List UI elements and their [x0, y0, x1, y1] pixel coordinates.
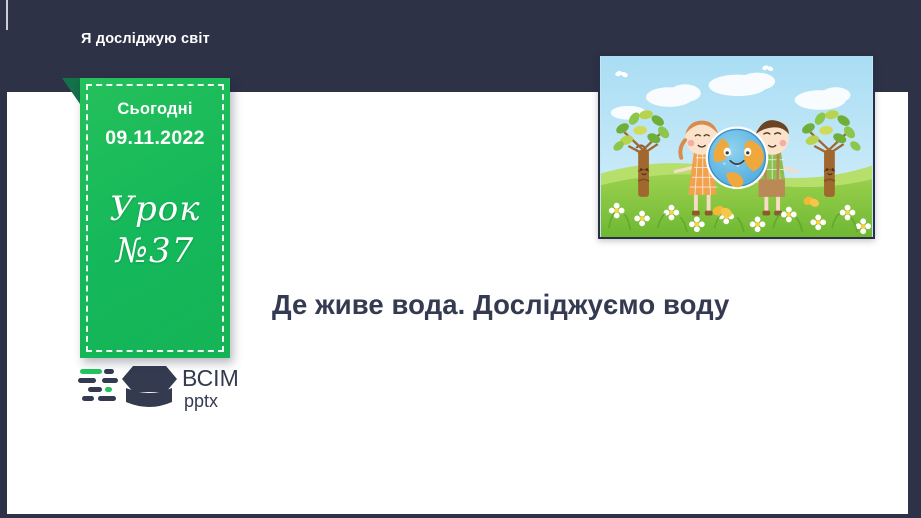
- top-left-sliver: [6, 0, 8, 30]
- lesson-illustration: [598, 54, 875, 239]
- speed-lines-icon: [78, 369, 118, 401]
- card-fold-corner: [62, 78, 80, 104]
- card-body: Сьогодні 09.11.2022 Урок №37: [80, 78, 230, 358]
- graduation-cap-icon: [122, 366, 177, 407]
- lesson-number: №37: [80, 234, 230, 270]
- panel-right-edge: [908, 92, 921, 518]
- panel-bottom-edge: [0, 514, 921, 518]
- earth-globe: [706, 126, 769, 189]
- today-date: 09.11.2022: [80, 127, 230, 150]
- vsim-pptx-logo[interactable]: ВСІМ pptx: [78, 362, 243, 414]
- today-label: Сьогодні: [80, 100, 230, 118]
- slide-canvas: Я досліджую світ Сьогодні 09.11.2022 Уро…: [0, 0, 921, 518]
- illustration-svg: [600, 56, 873, 237]
- logo-brand-text: ВСІМ: [182, 365, 239, 391]
- lesson-word: Урок: [80, 192, 230, 228]
- panel-left-edge: [0, 92, 7, 518]
- page-title: Де живе вода. Досліджуємо воду: [272, 288, 872, 321]
- subject-header: Я досліджую світ: [81, 31, 210, 47]
- date-lesson-card: Сьогодні 09.11.2022 Урок №37: [62, 78, 237, 363]
- logo-suffix-text: pptx: [184, 391, 218, 411]
- card-content: Сьогодні 09.11.2022 Урок №37: [80, 78, 230, 358]
- logo-svg: ВСІМ pptx: [78, 362, 243, 414]
